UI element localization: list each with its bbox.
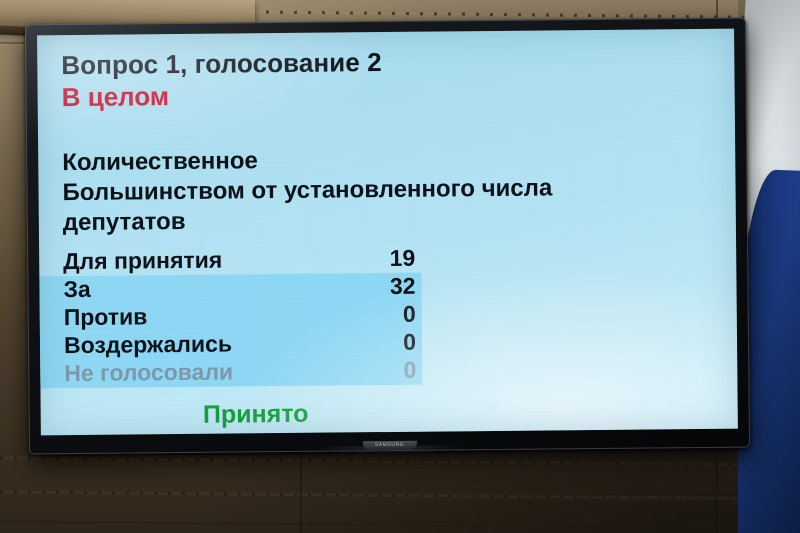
row-label: За xyxy=(63,273,363,303)
row-label: Не голосовали xyxy=(64,357,364,387)
wall-vertical-seam xyxy=(300,455,302,533)
row-label: Для принятия xyxy=(63,245,363,275)
table-row: За 32 xyxy=(39,273,421,305)
tv-brand-logo: SAMSUNG xyxy=(362,441,416,451)
row-value: 32 xyxy=(363,273,421,301)
row-value: 0 xyxy=(364,357,422,385)
photo-scene: Вопрос 1, голосование 2 В целом Количест… xyxy=(0,0,800,533)
row-value: 0 xyxy=(364,301,422,329)
row-value: 0 xyxy=(364,329,422,357)
table-row: Против 0 xyxy=(40,301,422,333)
row-label: Против xyxy=(64,301,364,331)
tv-screen: Вопрос 1, голосование 2 В целом Количест… xyxy=(37,29,738,436)
row-label: Воздержались xyxy=(64,329,364,359)
vote-results-table: Для принятия 19 За 32 Против 0 Воздержал… xyxy=(39,245,446,389)
television: Вопрос 1, голосование 2 В целом Количест… xyxy=(25,18,750,455)
row-value: 19 xyxy=(363,245,421,273)
table-row: Воздержались 0 xyxy=(40,329,422,361)
table-row: Не голосовали 0 xyxy=(40,357,422,389)
table-row: Для принятия 19 xyxy=(39,245,421,277)
voting-result-slide: Вопрос 1, голосование 2 В целом Количест… xyxy=(37,29,738,436)
page-title: Вопрос 1, голосование 2 xyxy=(61,45,734,81)
status-badge: Принято xyxy=(41,399,447,432)
